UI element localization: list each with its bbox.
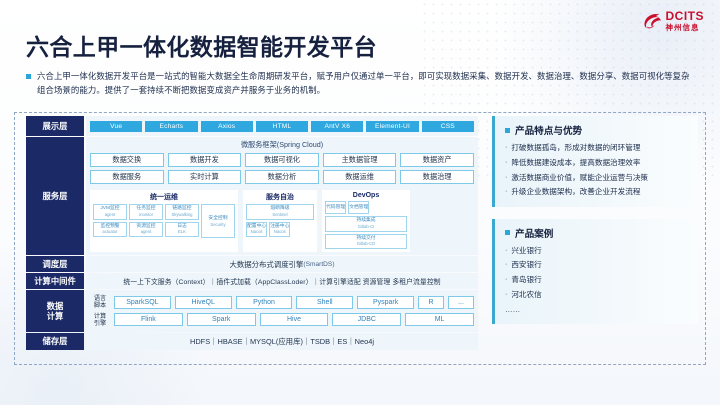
architecture-diagram: 展示层 Vue Echarts Axios HTML AntV X6 Eleme… <box>26 116 478 361</box>
devops-inner: 代码管理 文档管理 <box>325 201 407 214</box>
layer-label-data-compute: 数据 计算 <box>26 290 84 332</box>
layer-service: 服务层 微服务框架(Spring Cloud) 数据交换 数据开发 数据可视化 … <box>26 137 478 255</box>
brand-logo-en: DCITS <box>666 10 705 22</box>
compute-engine-row: 计算 引擎 Flink Spark Hive JDBC ML <box>90 313 474 328</box>
dcits-swirl-logo-icon <box>642 11 662 31</box>
feature-item: · 打破数据孤岛，形成对数据的闭环管理 <box>505 143 689 153</box>
autonomy-cell-circuit-breaker[interactable]: 熔断降级 Sentinel <box>246 204 314 219</box>
ops-cell[interactable]: 链路监控 Skywalking <box>165 204 199 219</box>
devops-cell-en: Gitlab-CD <box>357 241 375 246</box>
ops-cell[interactable]: 资源监控 agent <box>129 222 163 237</box>
layer-compute-middleware: 计算中间件 统一上下文服务（Context）｜插件式加载（AppClassLod… <box>26 273 478 289</box>
compute-engine-tag: 计算 引擎 <box>90 313 110 328</box>
scheduling-engine-row: 大数据分布式调度引擎 (SmartDS) <box>86 256 478 272</box>
tech-tag: CSS <box>422 121 474 132</box>
layer-presentation: 展示层 Vue Echarts Axios HTML AntV X6 Eleme… <box>26 116 478 136</box>
language-chip[interactable]: SparkSQL <box>114 296 171 309</box>
security-cell-en: Security <box>210 222 225 227</box>
layer-label-service: 服务层 <box>26 137 84 255</box>
engine-chip[interactable]: Hive <box>260 313 329 326</box>
tech-tag: Axios <box>201 121 253 132</box>
storage-text: HDFS｜HBASE｜MYSQL(应用库)｜TSDB｜ES｜Neo4j <box>86 333 478 350</box>
service-module[interactable]: 数据治理 <box>400 170 474 184</box>
autonomy-cell-registry-center[interactable]: 注册中心 Nacos <box>269 222 290 237</box>
case-item: · 西安银行 <box>505 260 689 270</box>
card-cases-title: 产品案例 <box>515 226 553 240</box>
page-title: 六合上甲一体化数据智能开发平台 <box>26 28 377 62</box>
engine-tag-line1: 计算 <box>90 313 110 320</box>
devops-cell-doc-mgmt[interactable]: 文档管理 <box>348 201 369 214</box>
case-item: · 河北农信 <box>505 290 689 300</box>
case-item-text: 青岛银行 <box>511 275 541 285</box>
ops-cell[interactable]: JVM监控 agent <box>93 204 127 219</box>
card-features-title: 产品特点与优势 <box>515 123 582 137</box>
service-module[interactable]: 数据资产 <box>400 153 474 167</box>
ops-col-1: JVM监控 agent 监控预警 actuator <box>93 204 127 238</box>
case-item-text: …… <box>505 305 520 315</box>
autonomy-cell-en: Nacos <box>251 229 263 234</box>
service-module[interactable]: 实时计算 <box>168 170 242 184</box>
tech-tag: Vue <box>90 121 142 132</box>
ops-cell-en: monitor <box>139 212 153 217</box>
language-chip[interactable]: R <box>418 296 444 309</box>
language-chip-more[interactable]: ... <box>448 296 474 309</box>
case-item: · 青岛银行 <box>505 275 689 285</box>
ops-cell-en: agent <box>105 212 115 217</box>
autonomy-cell-en: Nacos <box>274 229 286 234</box>
page-subtitle: 六合上甲一体化数据开发平台是一站式的智能大数据全生命周期研发平台，赋予用户仅通过… <box>37 70 692 98</box>
ops-cell-en: agent <box>141 229 151 234</box>
devops-cell-cn: 代码管理 <box>326 205 345 211</box>
engine-chip[interactable]: Spark <box>187 313 256 326</box>
engine-chip-list: Flink Spark Hive JDBC ML <box>114 313 474 326</box>
layer-label-presentation: 展示层 <box>26 116 84 136</box>
dot-icon: · <box>505 260 507 270</box>
engine-tag-line2: 引擎 <box>90 320 110 327</box>
ops-col-3: 链路监控 Skywalking 日志 ELK <box>165 204 199 238</box>
language-chip[interactable]: HiveQL <box>175 296 232 309</box>
dot-icon: · <box>505 246 507 256</box>
group-title: 服务自治 <box>246 192 314 202</box>
devops-cell-cd[interactable]: 持续交付 Gitlab-CD <box>325 234 407 249</box>
features-list: · 打破数据孤岛，形成对数据的闭环管理 · 降低数据建设成本，提高数据治理效率 … <box>505 143 689 198</box>
group-devops: DevOps 代码管理 文档管理 持续集成 <box>322 190 410 251</box>
presentation-tag-row: Vue Echarts Axios HTML AntV X6 Element-U… <box>86 116 478 136</box>
service-support-groups: 统一运维 JVM监控 agent 监控预警 actuator <box>90 190 474 251</box>
feature-item-text: 激活数据商业价值，赋能企业运营与决策 <box>511 173 648 183</box>
engine-chip[interactable]: Flink <box>114 313 183 326</box>
card-cases: 产品案例 · 兴业银行 · 西安银行 · 青岛银行 · 河北农信 <box>492 219 698 324</box>
scheduling-engine-tech: (SmartDS) <box>303 261 334 268</box>
language-tag-line1: 语言 <box>90 295 110 302</box>
cases-list: · 兴业银行 · 西安银行 · 青岛银行 · 河北农信 …… <box>505 246 689 315</box>
dot-icon: · <box>505 275 507 285</box>
dot-icon: · <box>505 290 507 300</box>
tech-tag: AntV X6 <box>311 121 363 132</box>
devops-cell-cn: 文档管理 <box>349 205 368 211</box>
service-module-row: 数据服务 实时计算 数据分析 数据运维 数据治理 <box>90 170 474 184</box>
case-item: · 兴业银行 <box>505 246 689 256</box>
bullet-square-icon <box>505 128 510 133</box>
tech-tag: HTML <box>256 121 308 132</box>
service-module-grid: 数据交换 数据开发 数据可视化 主数据管理 数据资产 数据服务 实时计算 数据分… <box>90 153 474 184</box>
language-script-row: 语言 脚本 SparkSQL HiveQL Python Shell Pyspa… <box>90 295 474 310</box>
ops-cell-en: actuator <box>102 229 117 234</box>
tech-tag: Echarts <box>145 121 197 132</box>
group-service-autonomy: 服务自治 熔断降级 Sentinel 配置中心 Nacos <box>243 190 317 251</box>
language-chip[interactable]: Python <box>236 296 293 309</box>
service-module[interactable]: 数据分析 <box>245 170 319 184</box>
group-inner: JVM监控 agent 监控预警 actuator 任务监控 <box>93 204 235 238</box>
bullet-square-icon <box>26 74 31 79</box>
bullet-square-icon <box>505 230 510 235</box>
brand-logo-cn: 神州信息 <box>666 24 705 32</box>
service-body: 微服务框架(Spring Cloud) 数据交换 数据开发 数据可视化 主数据管… <box>86 137 478 255</box>
dot-icon: · <box>505 173 507 183</box>
service-module[interactable]: 数据可视化 <box>245 153 319 167</box>
ops-cell[interactable]: 任务监控 monitor <box>129 204 163 219</box>
storage-body: HDFS｜HBASE｜MYSQL(应用库)｜TSDB｜ES｜Neo4j <box>86 333 478 350</box>
devops-cell-en: Gitlab-CI <box>358 224 375 229</box>
layer-label-line2: 计算 <box>47 311 64 321</box>
middleware-text: 统一上下文服务（Context）｜插件式加载（AppClassLoder）｜计算… <box>86 273 478 289</box>
language-script-tag: 语言 脚本 <box>90 295 110 310</box>
ops-cell[interactable]: 日志 ELK <box>165 222 199 237</box>
layer-storage: 储存层 HDFS｜HBASE｜MYSQL(应用库)｜TSDB｜ES｜Neo4j <box>26 333 478 350</box>
language-tag-line2: 脚本 <box>90 302 110 309</box>
feature-item: · 降低数据建设成本，提高数据治理效率 <box>505 158 689 168</box>
feature-item: · 激活数据商业价值，赋能企业运营与决策 <box>505 173 689 183</box>
layer-data-compute: 数据 计算 语言 脚本 SparkSQL HiveQL Python Shell <box>26 290 478 332</box>
case-item-more: …… <box>505 305 689 315</box>
service-module-row: 数据交换 数据开发 数据可视化 主数据管理 数据资产 <box>90 153 474 167</box>
layer-label-compute-middleware: 计算中间件 <box>26 273 84 289</box>
engine-chip[interactable]: ML <box>405 313 474 326</box>
devops-stack: 代码管理 文档管理 持续集成 Gitlab-CI <box>325 201 407 248</box>
middleware-body: 统一上下文服务（Context）｜插件式加载（AppClassLoder）｜计算… <box>86 273 478 289</box>
devops-cell-code-mgmt[interactable]: 代码管理 <box>325 201 346 214</box>
language-chip[interactable]: Shell <box>296 296 353 309</box>
dot-icon: · <box>505 158 507 168</box>
microservice-framework-title: 微服务框架(Spring Cloud) <box>90 140 474 150</box>
service-module[interactable]: 数据运维 <box>323 170 397 184</box>
case-item-text: 河北农信 <box>511 290 541 300</box>
language-chip[interactable]: Pyspark <box>357 296 414 309</box>
autonomy-cell-config-center[interactable]: 配置中心 Nacos <box>246 222 267 237</box>
ops-cell-en: ELK <box>178 229 186 234</box>
card-cases-title-row: 产品案例 <box>505 226 689 240</box>
feature-item-text: 升级企业数据架构，改善企业开发流程 <box>511 187 640 197</box>
card-features: 产品特点与优势 · 打破数据孤岛，形成对数据的闭环管理 · 降低数据建设成本，提… <box>492 116 698 207</box>
layer-label-line1: 数据 <box>47 301 64 311</box>
language-chip-list: SparkSQL HiveQL Python Shell Pyspark R .… <box>114 296 474 309</box>
autonomy-inner: 配置中心 Nacos 注册中心 Nacos <box>246 222 314 237</box>
brand-logo: DCITS 神州信息 <box>642 10 705 32</box>
presentation-body: Vue Echarts Axios HTML AntV X6 Element-U… <box>86 116 478 136</box>
group-title: DevOps <box>325 192 407 199</box>
case-item-text: 西安银行 <box>511 260 541 270</box>
feature-item: · 升级企业数据架构，改善企业开发流程 <box>505 187 689 197</box>
layer-label-storage: 储存层 <box>26 333 84 350</box>
group-title: 统一运维 <box>93 192 235 202</box>
right-panel: 产品特点与优势 · 打破数据孤岛，形成对数据的闭环管理 · 降低数据建设成本，提… <box>492 116 698 324</box>
layer-scheduling: 调度层 大数据分布式调度引擎 (SmartDS) <box>26 256 478 272</box>
dot-icon: · <box>505 143 507 153</box>
security-control-cell[interactable]: 安全控制 Security <box>201 204 235 238</box>
feature-item-text: 降低数据建设成本，提高数据治理效率 <box>511 158 640 168</box>
devops-cell-ci[interactable]: 持续集成 Gitlab-CI <box>325 216 407 231</box>
ops-col-2: 任务监控 monitor 资源监控 agent <box>129 204 163 238</box>
group-unified-ops: 统一运维 JVM监控 agent 监控预警 actuator <box>90 190 238 251</box>
ops-cell-en: Skywalking <box>172 212 193 217</box>
service-module[interactable]: 数据交换 <box>90 153 164 167</box>
feature-item-text: 打破数据孤岛，形成对数据的闭环管理 <box>511 143 640 153</box>
ops-col-security: 安全控制 Security <box>201 204 235 238</box>
page-subtitle-block: 六合上甲一体化数据开发平台是一站式的智能大数据全生命周期研发平台，赋予用户仅通过… <box>26 70 692 98</box>
card-features-title-row: 产品特点与优势 <box>505 123 689 137</box>
data-compute-body: 语言 脚本 SparkSQL HiveQL Python Shell Pyspa… <box>86 290 478 332</box>
tech-tag: Element-UI <box>366 121 418 132</box>
service-module[interactable]: 数据服务 <box>90 170 164 184</box>
ops-cell[interactable]: 监控预警 actuator <box>93 222 127 237</box>
dot-icon: · <box>505 187 507 197</box>
autonomy-stack: 熔断降级 Sentinel 配置中心 Nacos 注册中心 N <box>246 204 314 236</box>
scheduling-body: 大数据分布式调度引擎 (SmartDS) <box>86 256 478 272</box>
engine-chip[interactable]: JDBC <box>332 313 401 326</box>
layer-label-scheduling: 调度层 <box>26 256 84 272</box>
service-module[interactable]: 数据开发 <box>168 153 242 167</box>
case-item-text: 兴业银行 <box>511 246 541 256</box>
autonomy-cell-en: Sentinel <box>272 212 287 217</box>
service-module[interactable]: 主数据管理 <box>323 153 397 167</box>
slide-root: DCITS 神州信息 六合上甲一体化数据智能开发平台 六合上甲一体化数据开发平台… <box>0 0 720 405</box>
scheduling-engine-name: 大数据分布式调度引擎 <box>229 259 303 270</box>
brand-logo-text: DCITS 神州信息 <box>666 10 705 32</box>
